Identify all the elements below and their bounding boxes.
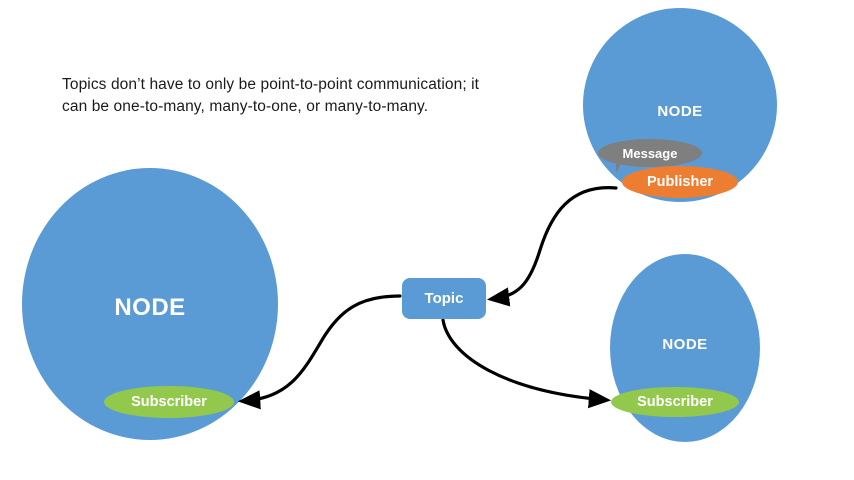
- node-bottom-right-label: NODE: [610, 336, 760, 353]
- subscriber-left[interactable]: Subscriber: [104, 386, 234, 418]
- edge-publisher-to-topic: [492, 188, 616, 299]
- topic-box[interactable]: Topic: [402, 278, 486, 319]
- message-bubble[interactable]: Message: [598, 139, 702, 167]
- publisher[interactable]: Publisher: [622, 166, 738, 198]
- diagram-canvas: Topics don’t have to only be point-to-po…: [0, 0, 854, 480]
- edge-topic-to-subscriber-bottomright: [443, 320, 606, 400]
- subscriber-bottom-right[interactable]: Subscriber: [611, 387, 739, 417]
- node-top-right-label: NODE: [583, 103, 777, 120]
- node-left-label: NODE: [22, 294, 278, 322]
- caption-text: Topics don’t have to only be point-to-po…: [62, 74, 482, 120]
